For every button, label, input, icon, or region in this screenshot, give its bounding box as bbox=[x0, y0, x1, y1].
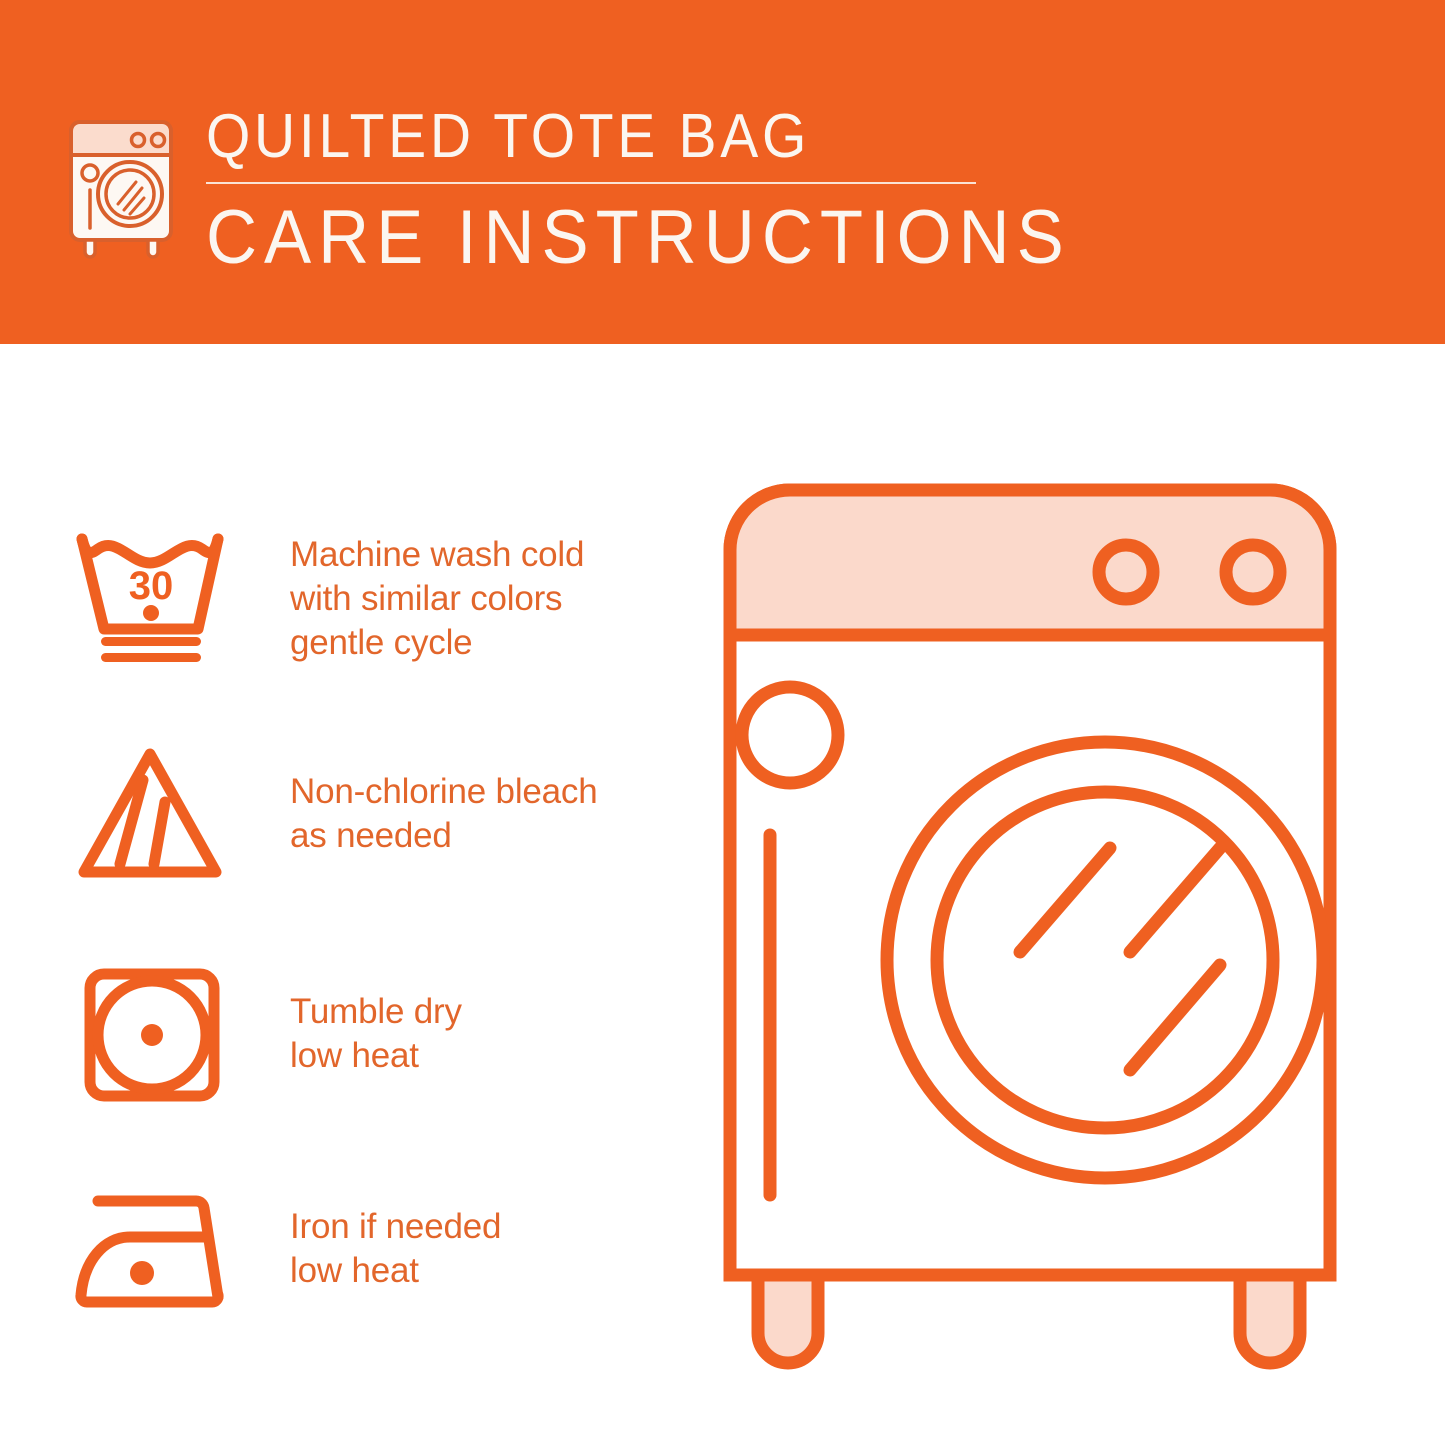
care-text-bleach: Non-chlorine bleach as needed bbox=[290, 770, 598, 858]
page-title: QUILTED TOTE BAG bbox=[206, 104, 942, 170]
washing-machine-logo-icon bbox=[60, 100, 192, 260]
wash-tub-30-icon: 30 bbox=[62, 524, 242, 674]
care-text-tumble-dry: Tumble dry low heat bbox=[290, 990, 462, 1078]
bleach-triangle-icon bbox=[62, 739, 242, 889]
care-line: gentle cycle bbox=[290, 621, 584, 665]
care-line: Machine wash cold bbox=[290, 533, 584, 577]
care-line: Iron if needed bbox=[290, 1205, 501, 1249]
washer-control-panel bbox=[730, 490, 1330, 635]
washer-leg-left bbox=[758, 1275, 818, 1363]
header-banner: QUILTED TOTE BAG CARE INSTRUCTIONS bbox=[0, 0, 1445, 344]
washing-machine-illustration bbox=[700, 460, 1400, 1390]
care-line: with similar colors bbox=[290, 577, 584, 621]
header-text-block: QUILTED TOTE BAG CARE INSTRUCTIONS bbox=[206, 104, 1006, 278]
care-row-bleach: Non-chlorine bleach as needed bbox=[0, 709, 700, 919]
care-row-tumble-dry: Tumble dry low heat bbox=[0, 929, 700, 1139]
care-text-iron: Iron if needed low heat bbox=[290, 1205, 501, 1293]
washer-leg-right bbox=[1240, 1275, 1300, 1363]
care-line: Tumble dry bbox=[290, 990, 462, 1034]
care-row-iron: Iron if needed low heat bbox=[0, 1144, 700, 1354]
title-divider bbox=[206, 182, 976, 184]
care-line: as needed bbox=[290, 814, 598, 858]
care-text-machine-wash: Machine wash cold with similar colors ge… bbox=[290, 533, 584, 665]
care-line: low heat bbox=[290, 1034, 462, 1078]
care-instructions-page: QUILTED TOTE BAG CARE INSTRUCTIONS 30 bbox=[0, 0, 1445, 1445]
wash-temp-label: 30 bbox=[129, 564, 174, 608]
care-line: Non-chlorine bleach bbox=[290, 770, 598, 814]
iron-low-heat-icon bbox=[62, 1174, 242, 1324]
care-row-machine-wash: 30 Machine wash cold with similar colors… bbox=[0, 494, 700, 704]
care-line: low heat bbox=[290, 1249, 501, 1293]
page-subtitle: CARE INSTRUCTIONS bbox=[206, 198, 950, 278]
tumble-dry-low-icon bbox=[62, 959, 242, 1109]
